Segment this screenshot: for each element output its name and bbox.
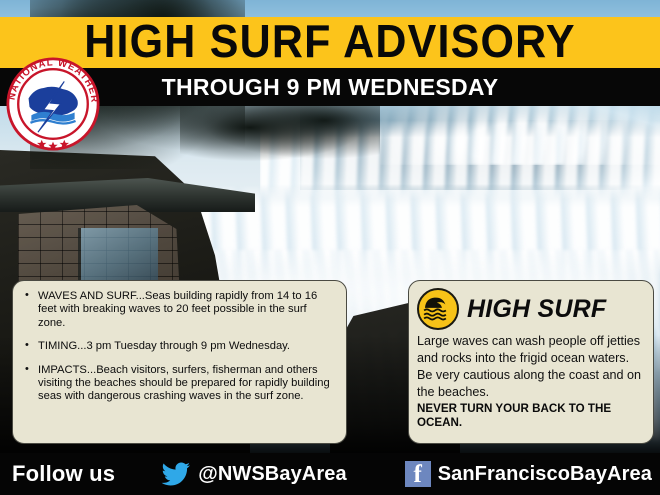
list-item: IMPACTS...Beach visitors, surfers, fishe… [23, 364, 334, 404]
advisory-details-panel: WAVES AND SURF...Seas building rapidly f… [12, 280, 347, 444]
page-title: HIGH SURF ADVISORY [84, 19, 575, 65]
high-surf-callout-panel: HIGH SURF Large waves can wash people of… [408, 280, 654, 444]
facebook-f-icon: f [405, 461, 431, 487]
callout-body-text: Large waves can wash people off jetties … [417, 333, 644, 401]
high-surf-advisory-poster: HIGH SURF ADVISORY THROUGH 9 PM WEDNESDA… [0, 0, 660, 495]
social-media-bar: Follow us @NWSBayArea f SanFranciscoBayA… [0, 453, 660, 495]
advisory-subtitle: THROUGH 9 PM WEDNESDAY [162, 76, 499, 99]
cypress-branch [180, 96, 380, 166]
facebook-link[interactable]: f SanFranciscoBayArea [405, 461, 652, 487]
advisory-bullet-list: WAVES AND SURF...Seas building rapidly f… [23, 290, 334, 404]
list-item: WAVES AND SURF...Seas building rapidly f… [23, 290, 334, 330]
list-item: TIMING...3 pm Tuesday through 9 pm Wedne… [23, 340, 334, 353]
twitter-bird-icon [161, 462, 191, 487]
twitter-handle: @NWSBayArea [198, 463, 346, 486]
high-surf-wave-icon [417, 288, 459, 330]
callout-title: HIGH SURF [467, 297, 606, 322]
advisory-banner: HIGH SURF ADVISORY [0, 17, 660, 68]
twitter-link[interactable]: @NWSBayArea [161, 462, 346, 487]
facebook-handle: SanFranciscoBayArea [438, 463, 652, 486]
callout-header: HIGH SURF [417, 288, 644, 330]
follow-us-label: Follow us [12, 461, 115, 487]
national-weather-service-logo-icon: NATIONAL WEATHER SERVICE [6, 57, 100, 151]
callout-warning-text: NEVER TURN YOUR BACK TO THE OCEAN. [417, 402, 644, 430]
